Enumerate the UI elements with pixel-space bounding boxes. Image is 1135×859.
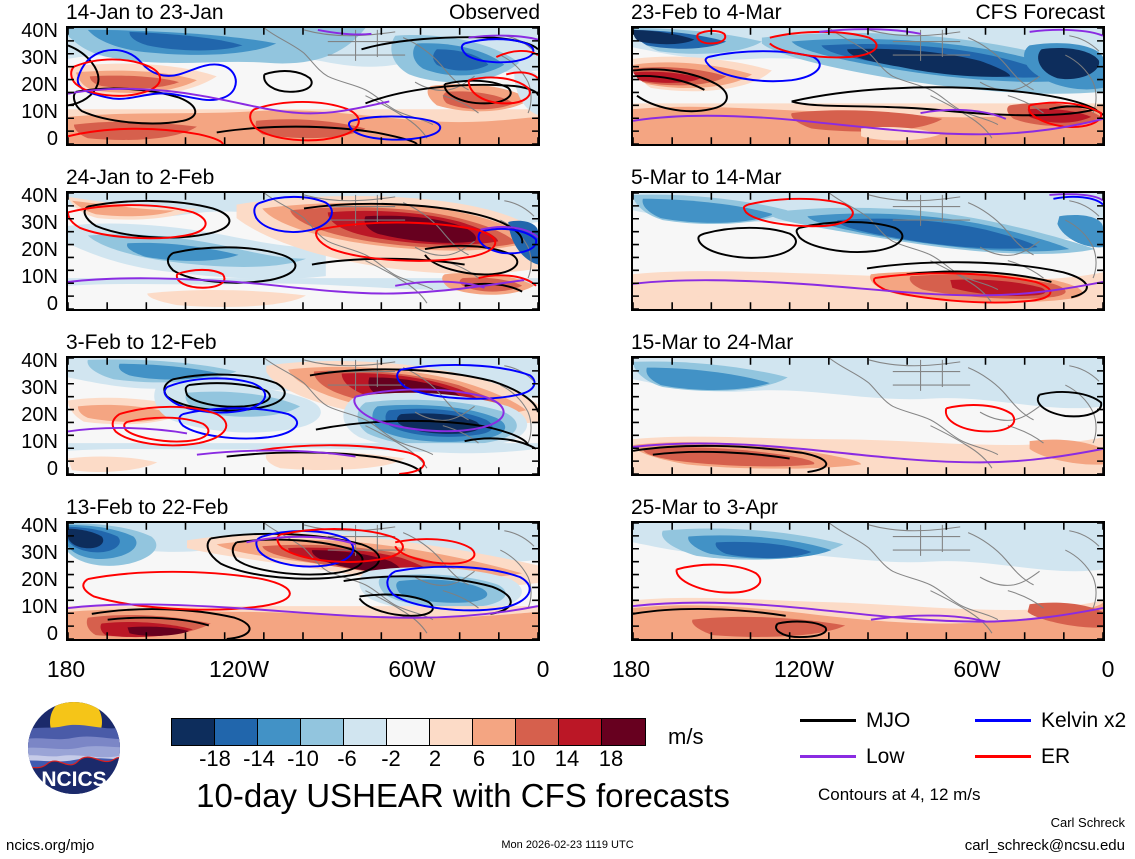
colorbar-tick: 6	[473, 748, 485, 770]
x-tick-180-right: 180	[601, 658, 661, 681]
legend-line-low	[800, 755, 856, 758]
x-tick-0-right: 0	[1088, 658, 1128, 681]
panel-obs-1[interactable]: 14-Jan to 23-Jan Observed	[66, 2, 540, 162]
y-tick-0-row3: 0	[0, 624, 58, 644]
map-field-obs-2	[68, 193, 538, 309]
legend-line-kelvin	[975, 719, 1031, 722]
panel-title: 5-Mar to 14-Mar	[631, 167, 782, 188]
generation-timestamp: Mon 2026-02-23 1119 UTC	[0, 840, 1135, 851]
map-field-fcst-3	[633, 358, 1103, 474]
legend-label-mjo: MJO	[866, 710, 910, 731]
colorbar-tick: 10	[511, 748, 535, 770]
colorbar-segment	[559, 719, 602, 745]
colorbar-segment	[516, 719, 559, 745]
panel-obs-4[interactable]: 13-Feb to 22-Feb	[66, 497, 540, 657]
colorbar-segment	[215, 719, 258, 745]
y-tick-10n-row0: 10N	[0, 102, 58, 122]
colorbar-tick: -14	[243, 748, 275, 770]
y-tick-40n-row0: 40N	[0, 21, 58, 41]
panel-obs-3[interactable]: 3-Feb to 12-Feb	[66, 332, 540, 492]
colorbar	[171, 718, 646, 746]
map-plot-area[interactable]	[66, 521, 540, 641]
y-tick-0-row0: 0	[0, 129, 58, 149]
map-field-fcst-1	[633, 28, 1103, 144]
map-field-fcst-4	[633, 523, 1103, 639]
y-tick-40n-row1: 40N	[0, 186, 58, 206]
y-tick-0-row1: 0	[0, 294, 58, 314]
panel-title: 3-Feb to 12-Feb	[66, 332, 217, 353]
panel-title: 24-Jan to 2-Feb	[66, 167, 214, 188]
colorbar-tick: 2	[429, 748, 441, 770]
legend-item-kelvin: Kelvin x2	[975, 710, 1126, 731]
x-tick-60w-left: 60W	[377, 658, 447, 681]
colorbar-tick: 18	[599, 748, 623, 770]
map-plot-area[interactable]	[631, 521, 1105, 641]
panel-title: 14-Jan to 23-Jan	[66, 2, 224, 23]
y-tick-10n-row1: 10N	[0, 267, 58, 287]
y-tick-20n-row0: 20N	[0, 75, 58, 95]
legend-item-mjo: MJO	[800, 710, 910, 731]
y-tick-20n-row1: 20N	[0, 240, 58, 260]
map-field-obs-3	[68, 358, 538, 474]
colorbar-segment	[387, 719, 430, 745]
panel-fcst-4[interactable]: 25-Mar to 3-Apr	[631, 497, 1105, 657]
colorbar-tick: -6	[337, 748, 357, 770]
x-tick-120w-left: 120W	[199, 658, 279, 681]
y-tick-30n-row0: 30N	[0, 48, 58, 68]
panel-title: 23-Feb to 4-Mar	[631, 2, 782, 23]
contour-legend: MJO Kelvin x2 Low ER	[800, 710, 1130, 776]
panel-fcst-1[interactable]: 23-Feb to 4-Mar CFS Forecast	[631, 2, 1105, 162]
y-tick-30n-row3: 30N	[0, 543, 58, 563]
ncics-logo: NCICS	[14, 700, 134, 796]
colorbar-tick: -10	[287, 748, 319, 770]
colorbar-units-label: m/s	[668, 726, 703, 748]
legend-label-kelvin: Kelvin x2	[1041, 710, 1126, 731]
panel-title: 15-Mar to 24-Mar	[631, 332, 793, 353]
ncics-logo-text: NCICS	[41, 768, 106, 791]
panel-title: 13-Feb to 22-Feb	[66, 497, 228, 518]
x-tick-180-left: 180	[36, 658, 96, 681]
colorbar-segment	[172, 719, 215, 745]
legend-line-mjo	[800, 719, 856, 722]
map-plot-area[interactable]	[631, 191, 1105, 311]
y-tick-30n-row1: 30N	[0, 213, 58, 233]
legend-item-er: ER	[975, 746, 1070, 767]
y-tick-10n-row2: 10N	[0, 432, 58, 452]
legend-label-low: Low	[866, 746, 905, 767]
y-tick-10n-row3: 10N	[0, 597, 58, 617]
panel-grid: 40N 30N 20N 10N 0 40N 30N 20N 10N 0 40N …	[0, 0, 1135, 690]
panel-title: 25-Mar to 3-Apr	[631, 497, 778, 518]
map-plot-area[interactable]	[66, 191, 540, 311]
x-tick-60w-right: 60W	[942, 658, 1012, 681]
legend-label-er: ER	[1041, 746, 1070, 767]
figure-title: 10-day USHEAR with CFS forecasts	[143, 779, 783, 812]
colorbar-segment	[258, 719, 301, 745]
author-name: Carl Schreck	[1051, 816, 1125, 829]
colorbar-tick: -2	[381, 748, 401, 770]
colorbar-segment	[430, 719, 473, 745]
panel-fcst-3[interactable]: 15-Mar to 24-Mar	[631, 332, 1105, 492]
panel-corner-label: Observed	[449, 2, 540, 23]
panel-corner-label: CFS Forecast	[975, 2, 1105, 23]
legend-line-er	[975, 755, 1031, 758]
legend-item-low: Low	[800, 746, 905, 767]
colorbar-segment	[344, 719, 387, 745]
colorbar-segment	[602, 719, 645, 745]
map-plot-area[interactable]	[631, 26, 1105, 146]
y-tick-20n-row2: 20N	[0, 405, 58, 425]
colorbar-tick: -18	[199, 748, 231, 770]
colorbar-segment	[473, 719, 516, 745]
y-tick-0-row2: 0	[0, 459, 58, 479]
map-field-obs-4	[68, 523, 538, 639]
map-field-obs-1	[68, 28, 538, 144]
y-tick-20n-row3: 20N	[0, 570, 58, 590]
x-tick-120w-right: 120W	[764, 658, 844, 681]
y-tick-30n-row2: 30N	[0, 378, 58, 398]
panel-fcst-2[interactable]: 5-Mar to 14-Mar	[631, 167, 1105, 327]
map-plot-area[interactable]	[66, 26, 540, 146]
map-plot-area[interactable]	[66, 356, 540, 476]
map-plot-area[interactable]	[631, 356, 1105, 476]
colorbar-tick-labels: -18 -14 -10 -6 -2 2 6 10 14 18	[171, 748, 646, 774]
contours-note: Contours at 4, 12 m/s	[818, 786, 981, 803]
colorbar-tick: 14	[555, 748, 579, 770]
y-tick-40n-row3: 40N	[0, 516, 58, 536]
map-field-fcst-2	[633, 193, 1103, 309]
colorbar-segment	[301, 719, 344, 745]
panel-obs-2[interactable]: 24-Jan to 2-Feb	[66, 167, 540, 327]
y-tick-40n-row2: 40N	[0, 351, 58, 371]
x-tick-0-left: 0	[523, 658, 563, 681]
